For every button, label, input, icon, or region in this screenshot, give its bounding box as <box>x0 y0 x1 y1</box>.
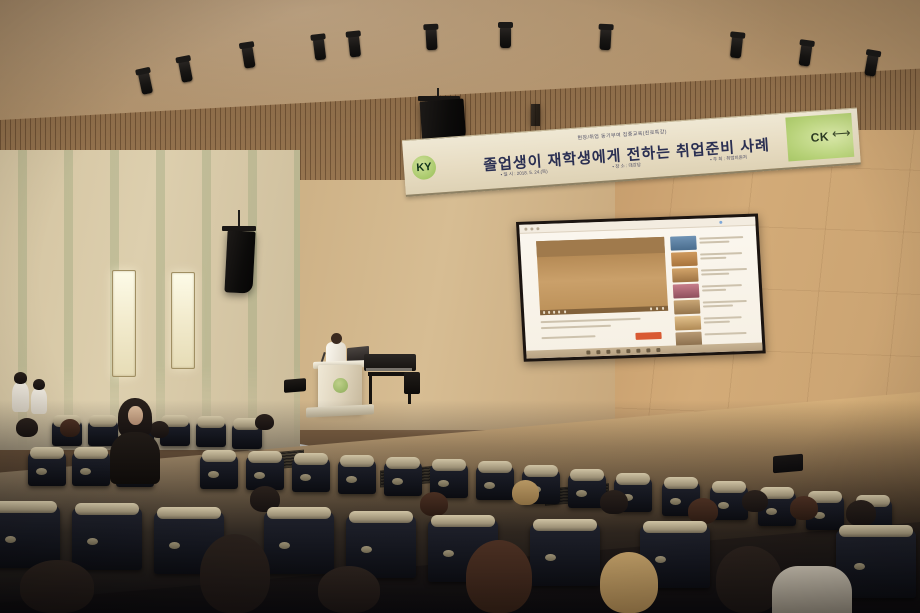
video-thumbnail <box>672 268 699 283</box>
seat-headrest <box>431 515 495 527</box>
banner-meta-place: • 장 소 : 대강당 <box>612 162 641 170</box>
auditorium-seat <box>72 452 110 486</box>
seat-headrest <box>664 477 699 489</box>
taskbar-icon <box>606 350 610 354</box>
auditorium-seat <box>292 458 330 492</box>
video-thumbnail <box>670 236 697 251</box>
person-head <box>600 552 658 613</box>
person-head <box>466 540 532 613</box>
seat-badge-icon <box>655 556 666 563</box>
video-title-line <box>703 300 747 304</box>
seat-badge-icon <box>80 468 91 475</box>
seat-headrest <box>712 481 747 493</box>
taskbar-icon <box>626 349 630 353</box>
person-head <box>16 418 38 437</box>
seat-badge-icon <box>5 536 16 543</box>
video-thumbnail <box>675 316 702 331</box>
taskbar-icon <box>586 350 590 354</box>
seat-badge-icon <box>346 476 357 483</box>
seat-badge-icon <box>208 471 219 478</box>
video-description-line <box>541 335 595 339</box>
seat-headrest <box>197 416 225 428</box>
seat-headrest <box>643 521 707 533</box>
video-title-line <box>701 273 729 276</box>
seat-headrest <box>839 525 913 537</box>
taskbar-icon <box>616 349 620 353</box>
video-title-line <box>702 284 742 287</box>
seat-headrest <box>386 457 421 469</box>
video-description-line <box>541 325 611 329</box>
taskbar-icon <box>636 349 640 353</box>
ceiling-spotlight-icon <box>348 34 361 57</box>
ceiling-spotlight-icon <box>599 28 611 51</box>
seat-headrest <box>349 511 413 523</box>
video-player <box>536 237 668 315</box>
banner-meta-host: • 주 최 : 취업지원처 <box>710 154 747 163</box>
browser-dot-icon <box>524 227 527 230</box>
seat-headrest <box>340 455 375 467</box>
seat-badge-icon <box>438 480 449 487</box>
ceiling-spotlight-icon <box>730 35 743 58</box>
equipment-case <box>404 372 420 394</box>
video-title-line <box>700 252 742 255</box>
video-title-line <box>705 332 747 335</box>
video-thumbnail <box>673 284 700 299</box>
auditorium-seat <box>476 466 514 500</box>
person-head <box>318 566 380 613</box>
person-face <box>128 406 143 425</box>
taskbar-icon <box>656 348 660 352</box>
seat-badge-icon <box>443 550 454 557</box>
video-title-line <box>699 241 729 244</box>
line-array-speaker <box>224 230 255 293</box>
seat-badge-icon <box>361 546 372 553</box>
video-title-line <box>704 316 742 319</box>
person-head <box>600 490 628 514</box>
taskbar-icon <box>646 348 650 352</box>
auditorium-photo: KY 현장/취업 동기부여 집중교육(진로특강) 졸업생이 재학생에게 전하는 … <box>0 0 920 613</box>
seat-headrest <box>202 450 237 462</box>
video-title-line <box>704 321 730 324</box>
seat-headrest <box>478 461 513 473</box>
auditorium-seat <box>28 452 66 486</box>
person-head <box>420 492 448 516</box>
seat-badge-icon <box>718 502 729 509</box>
seat-headrest <box>75 503 139 515</box>
auditorium-seat <box>196 421 226 447</box>
standing-person <box>31 388 47 414</box>
seated-person <box>772 566 852 613</box>
seat-headrest <box>157 507 221 519</box>
person-head <box>846 500 876 526</box>
seat-headrest <box>0 501 57 513</box>
seat-headrest <box>432 459 467 471</box>
seat-badge-icon <box>279 542 290 549</box>
stage-monitor-speaker <box>284 378 306 393</box>
seat-badge-icon <box>36 468 47 475</box>
ceiling-spotlight-icon <box>425 28 437 51</box>
projection-screen <box>516 214 766 362</box>
seat-badge-icon <box>300 474 311 481</box>
auditorium-seat <box>338 460 376 494</box>
auditorium-seat <box>72 508 142 570</box>
video-title-line <box>702 289 726 292</box>
seat-headrest <box>616 473 651 485</box>
auditorium-seat <box>384 462 422 496</box>
ck-logo-text: CK <box>810 130 829 145</box>
video-letterbox <box>536 237 665 257</box>
auditorium-seat <box>264 512 334 574</box>
video-thumbnail <box>671 252 698 267</box>
standing-person <box>12 382 29 412</box>
browser-dot-icon <box>536 227 539 230</box>
taskbar-icon <box>596 350 600 354</box>
piano-keys <box>366 368 412 371</box>
person-head <box>790 496 818 520</box>
auditorium-seat <box>530 524 600 586</box>
projected-image <box>519 217 762 359</box>
person-head <box>200 534 270 613</box>
seat-headrest <box>30 447 65 459</box>
ky-university-logo-icon: KY <box>411 155 437 181</box>
video-title-line <box>703 304 733 307</box>
person-head <box>33 379 45 390</box>
seat-badge-icon <box>766 508 777 515</box>
seat-headrest <box>524 465 559 477</box>
seat-badge-icon <box>87 538 98 545</box>
browser-dot-icon <box>530 227 533 230</box>
video-thumbnail <box>674 300 701 315</box>
seat-headrest <box>248 451 283 463</box>
ceiling-spotlight-icon <box>500 26 511 48</box>
person-head <box>20 560 94 613</box>
presenter-head <box>331 333 342 344</box>
auditorium-seat <box>246 456 284 490</box>
person-head <box>60 419 80 437</box>
person-head <box>512 480 539 505</box>
browser-dot-icon <box>719 220 722 223</box>
seat-badge-icon <box>670 498 681 505</box>
auditorium-seat <box>200 455 238 489</box>
video-controls-bar <box>540 306 668 315</box>
video-title-line <box>701 268 747 272</box>
subscribe-button[interactable] <box>635 332 661 340</box>
four-way-arrow-icon: ⟷ <box>831 125 851 142</box>
person-head <box>150 421 169 438</box>
seat-badge-icon <box>392 478 403 485</box>
university-crest-icon <box>333 378 348 393</box>
seat-badge-icon <box>254 472 265 479</box>
seat-badge-icon <box>854 563 865 570</box>
person-head <box>255 414 274 430</box>
video-description-line <box>541 318 641 323</box>
video-title-line <box>700 257 726 260</box>
line-array-speaker <box>531 104 540 126</box>
video-title-line <box>699 236 743 240</box>
seat-headrest <box>294 453 329 465</box>
person-head <box>742 490 768 512</box>
seat-badge-icon <box>545 554 556 561</box>
seat-headrest <box>533 519 597 531</box>
auditorium-seat <box>0 506 60 568</box>
seat-badge-icon <box>576 490 587 497</box>
seat-badge-icon <box>169 542 180 549</box>
wall-light-slot <box>112 270 136 377</box>
seated-person <box>110 432 160 484</box>
wall-light-slot <box>171 272 195 369</box>
seat-headrest <box>267 507 331 519</box>
video-sidebar <box>670 234 756 337</box>
seat-badge-icon <box>484 482 495 489</box>
seat-headrest <box>74 447 109 459</box>
person-head <box>14 372 27 384</box>
seat-headrest <box>570 469 605 481</box>
seat-headrest <box>89 415 117 427</box>
